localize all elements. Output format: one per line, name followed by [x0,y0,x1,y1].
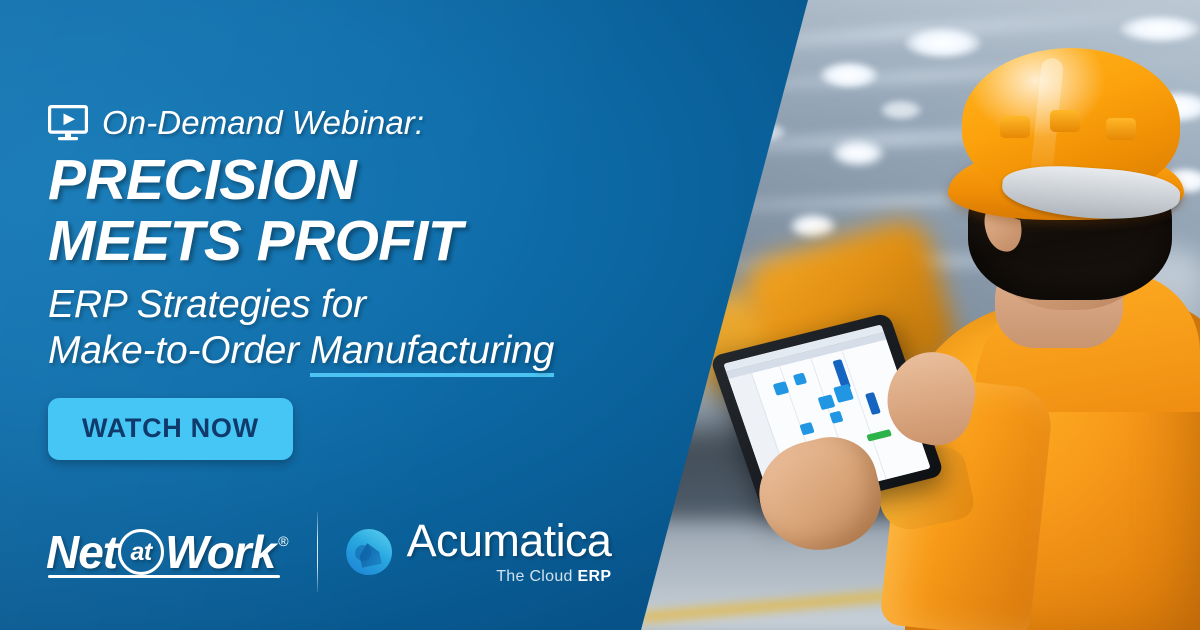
acumatica-wordmark: Acumatica The Cloud ERP [407,518,612,586]
webinar-promo-banner: On-Demand Webinar: PRECISION MEETS PROFI… [0,0,1200,630]
net-at-work-underline [48,575,280,578]
watch-now-button[interactable]: WATCH NOW [48,398,293,460]
acumatica-tagline-light: The Cloud [496,568,577,585]
acumatica-tagline: The Cloud ERP [496,568,611,586]
hard-hat-tab [1106,118,1136,140]
net-at-work-logo[interactable]: Net at Work ® [46,529,317,575]
eyebrow-label: On-Demand Webinar: [102,104,424,142]
gantt-bar [773,381,790,396]
gantt-bar [793,373,807,386]
net-at-work-at-badge: at [118,529,164,575]
gantt-bar [833,384,854,403]
page-title: PRECISION MEETS PROFIT [48,150,708,272]
subheadline-line-1: ERP Strategies for [48,283,366,326]
net-at-work-word-net: Net [46,529,117,575]
acumatica-tagline-bold: ERP [578,568,612,585]
subheadline-accent: Manufacturing [310,329,555,377]
acumatica-name: Acumatica [407,518,612,563]
headline-line-1: PRECISION [48,148,356,212]
gantt-bar [829,411,843,424]
gantt-bar [865,392,881,415]
subheadline-line-2-prefix: Make-to-Order [48,329,310,372]
eyebrow-row: On-Demand Webinar: [48,104,708,142]
headline-line-2: MEETS PROFIT [48,211,708,272]
registered-trademark-symbol: ® [278,533,288,549]
gantt-bar [799,422,814,435]
acumatica-droplet-icon [344,527,394,577]
logo-divider [317,512,318,592]
banner-content: On-Demand Webinar: PRECISION MEETS PROFI… [48,104,708,460]
acumatica-logo[interactable]: Acumatica The Cloud ERP [344,518,612,586]
subheadline: ERP Strategies for Make-to-Order Manufac… [48,282,708,374]
hard-hat-tab [1000,116,1030,138]
gantt-bar [818,394,836,410]
webinar-monitor-play-icon [48,105,88,141]
net-at-work-wordmark: Net at Work [46,529,275,575]
net-at-work-word-work: Work [165,529,275,575]
hard-hat-tab [1050,110,1080,132]
logo-row: Net at Work ® [46,512,611,592]
